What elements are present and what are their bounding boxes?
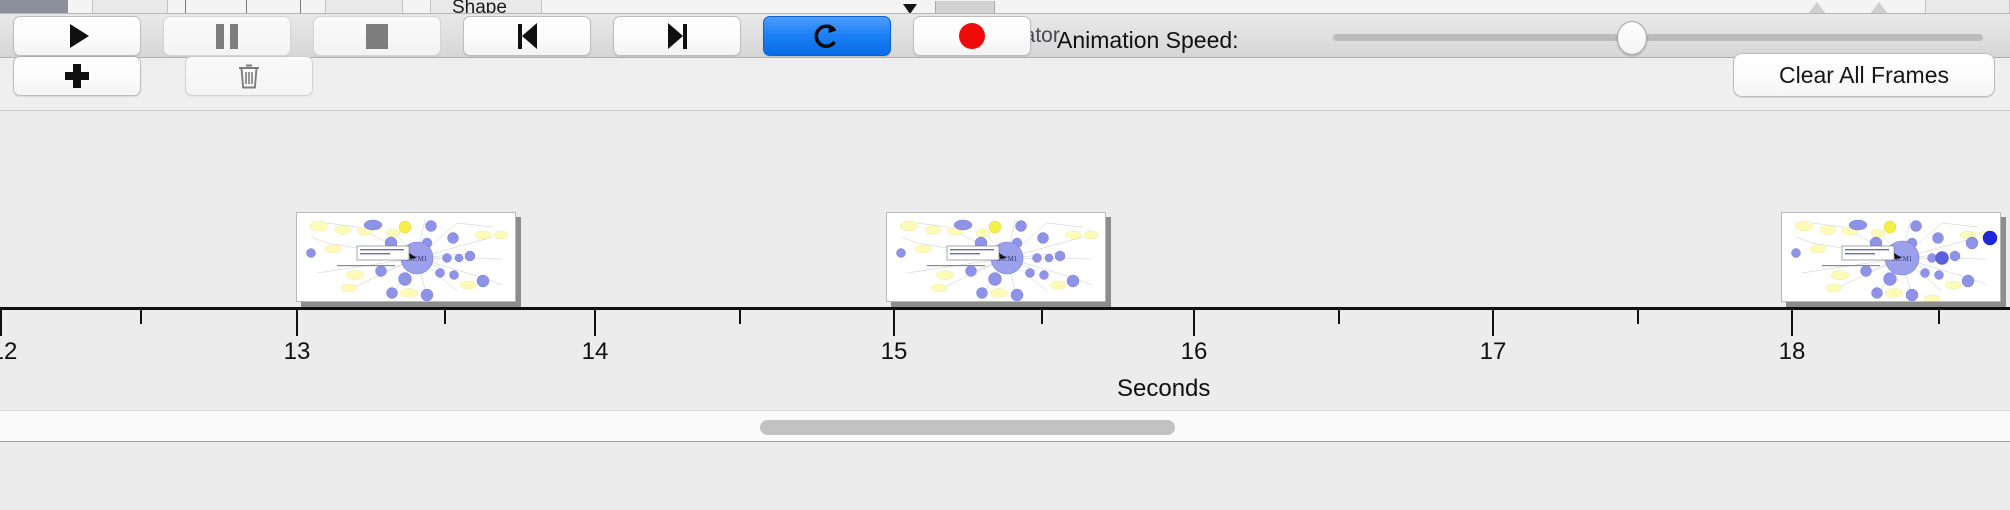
- background-window-triangle-icon: [1808, 2, 1826, 14]
- frame-thumbnail: MCM1: [1781, 212, 2001, 302]
- network-graph-thumbnail: MCM1: [297, 213, 516, 302]
- ruler-tick-minor: [444, 310, 446, 324]
- background-window-strip: Shape: [0, 0, 2010, 14]
- ruler-tick-major: [893, 310, 895, 336]
- loop-icon: [812, 21, 842, 51]
- timeline-frame-3[interactable]: MCM1: [1781, 212, 2006, 307]
- animation-speed-slider-thumb[interactable]: [1617, 21, 1647, 55]
- stop-button[interactable]: [313, 16, 441, 56]
- ruler-tick-minor: [1637, 310, 1639, 324]
- loop-button[interactable]: [763, 16, 891, 56]
- network-graph-thumbnail: MCM1: [1782, 213, 2001, 302]
- ruler-tick-minor: [1938, 310, 1940, 324]
- animation-speed-slider-track[interactable]: [1333, 34, 1983, 41]
- skip-to-end-button[interactable]: [613, 16, 741, 56]
- background-window-button: [935, 1, 995, 14]
- ruler-label-17: 17: [1480, 338, 1507, 366]
- ruler-label-16: 16: [1181, 338, 1208, 366]
- background-window-tick: [185, 0, 186, 14]
- trash-icon: [236, 62, 262, 90]
- ruler-label-13: 13: [284, 338, 311, 366]
- record-button[interactable]: [913, 16, 1031, 56]
- ruler-tick-minor: [1041, 310, 1043, 324]
- ruler-tick-major: [0, 310, 2, 336]
- ruler-tick-major: [594, 310, 596, 336]
- ruler-tick-major: [1193, 310, 1195, 336]
- skip-to-start-button[interactable]: [463, 16, 591, 56]
- background-window-triangle-icon: [1870, 2, 1888, 14]
- background-window-segment: [92, 0, 168, 14]
- ruler-tick-major: [1492, 310, 1494, 336]
- ruler-label-15: 15: [881, 338, 908, 366]
- frame-thumbnail: MCM1: [296, 212, 516, 302]
- play-button[interactable]: [13, 16, 141, 56]
- ruler-label-18: 18: [1779, 338, 1806, 366]
- horizontal-scrollbar-track[interactable]: [0, 410, 2010, 442]
- animation-speed-label: Animation Speed:: [1057, 27, 1239, 54]
- background-window-tick: [300, 0, 301, 14]
- ruler-tick-major: [1791, 310, 1793, 336]
- ruler-tick-minor: [1338, 310, 1340, 324]
- delete-frame-button[interactable]: [185, 56, 313, 96]
- background-window-arrow-icon: [903, 4, 917, 14]
- ruler-tick-minor: [140, 310, 142, 324]
- plus-icon: [64, 63, 90, 89]
- ruler-tick-minor: [739, 310, 741, 324]
- background-window-tick: [246, 0, 247, 14]
- playback-control-bar: [0, 443, 2010, 510]
- timeline-frame-2[interactable]: MCM1: [886, 212, 1111, 307]
- clear-all-frames-button[interactable]: Clear All Frames: [1733, 53, 1995, 97]
- background-window-chip: [0, 0, 68, 14]
- stop-icon: [366, 24, 388, 49]
- ruler-label-12: 12: [0, 338, 17, 366]
- background-window-shape-label: Shape: [452, 0, 507, 14]
- frame-thumbnail: MCM1: [886, 212, 1106, 302]
- skip-to-end-icon: [668, 23, 687, 49]
- cyanimator-window: Shape CyAnimator Clear All Frames: [0, 0, 2010, 510]
- timeline-ruler[interactable]: [0, 307, 2010, 310]
- add-frame-button[interactable]: [13, 56, 141, 96]
- pause-button[interactable]: [163, 16, 291, 56]
- pause-icon: [216, 24, 238, 49]
- play-icon: [70, 24, 89, 48]
- timeline-frame-1[interactable]: MCM1: [296, 212, 521, 307]
- ruler-tick-major: [296, 310, 298, 336]
- background-window-segment: [1925, 0, 2010, 14]
- record-icon: [959, 23, 985, 49]
- skip-to-start-icon: [518, 23, 537, 49]
- horizontal-scrollbar-thumb[interactable]: [760, 420, 1175, 435]
- network-graph-thumbnail: MCM1: [887, 213, 1106, 302]
- ruler-label-14: 14: [582, 338, 609, 366]
- background-window-segment: [325, 0, 403, 14]
- timeline-axis-title: Seconds: [1117, 375, 1210, 403]
